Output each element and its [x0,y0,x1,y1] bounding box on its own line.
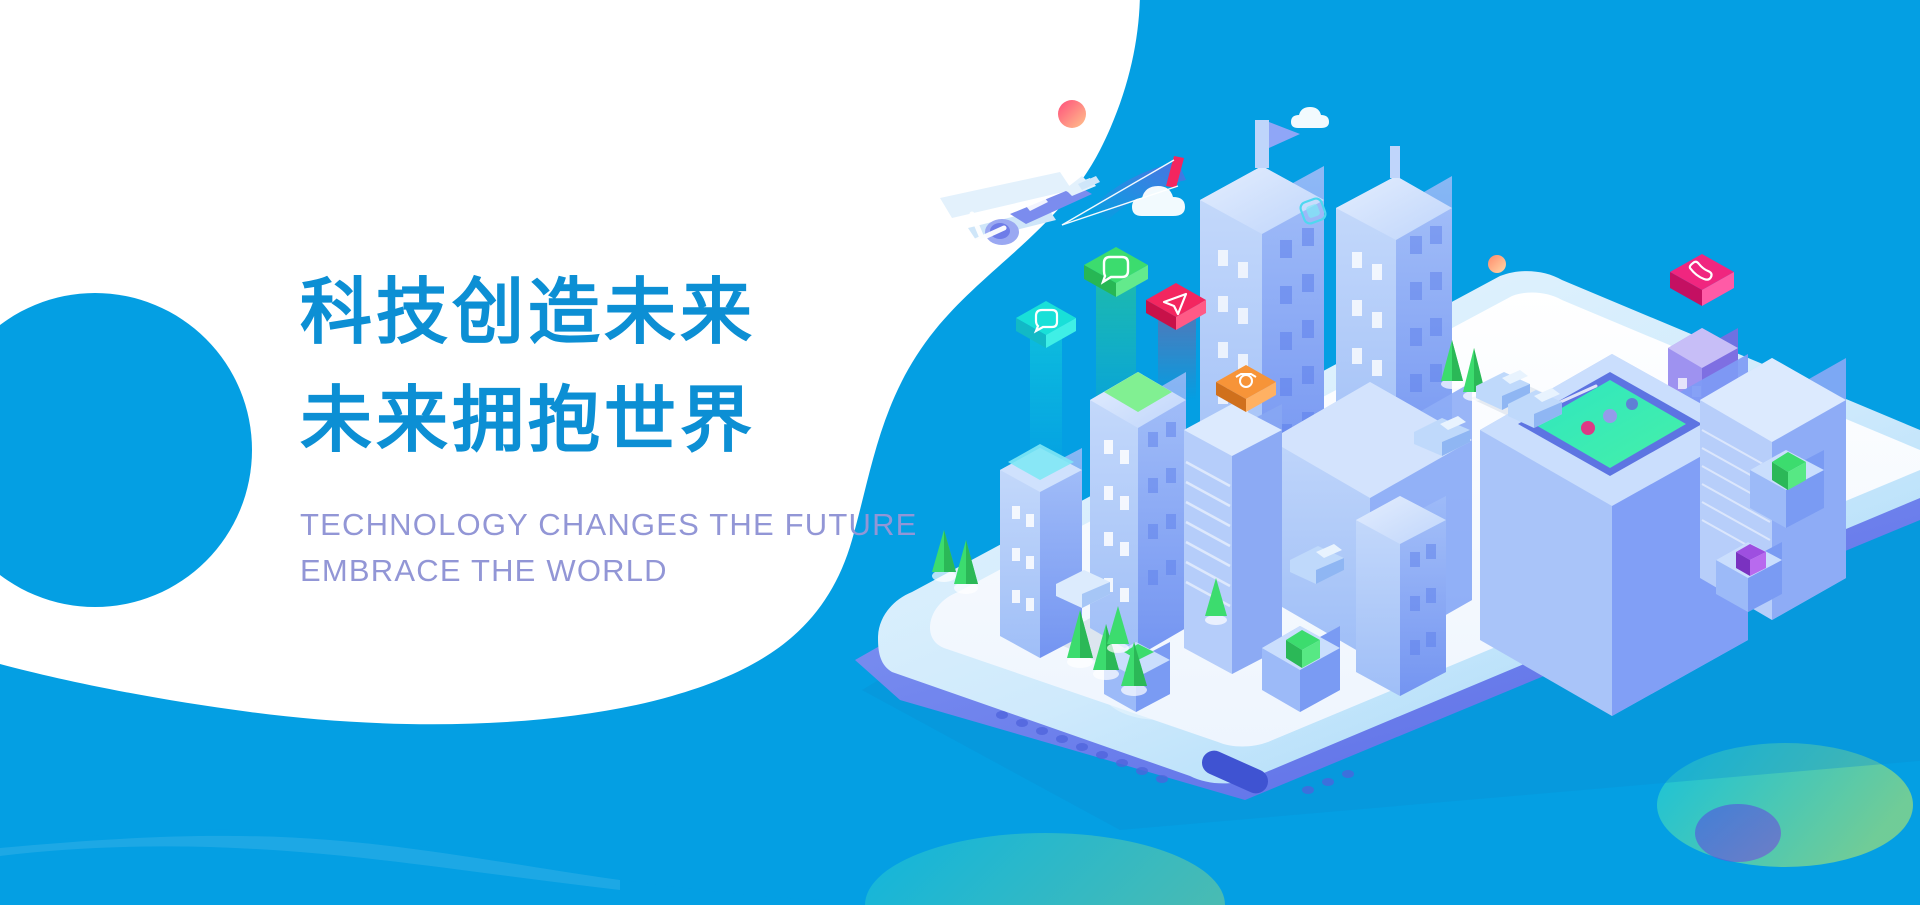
hero-copy: 科技创造未来 未来拥抱世界 TECHNOLOGY CHANGES THE FUT… [300,258,860,594]
cloud-2 [1291,107,1329,128]
subtitle-line-2: EMBRACE THE WORLD [300,548,860,594]
pin-send [1146,283,1206,330]
cloud-3 [888,302,929,325]
balloon-peach [1488,255,1506,273]
buildings-mid [1000,372,1472,905]
pin-message [1084,247,1148,297]
isometric-city-illustration [0,0,1920,905]
subtitle-line-1: TECHNOLOGY CHANGES THE FUTURE [300,502,860,548]
pin-phone [1670,254,1734,306]
balloon-coral [1058,100,1086,128]
headline-line-2: 未来拥抱世界 [300,366,860,474]
headline-line-1: 科技创造未来 [300,258,860,366]
hero-subtitle: TECHNOLOGY CHANGES THE FUTURE EMBRACE TH… [300,502,860,594]
pin-chat-bubble [1016,301,1076,348]
hero-banner: 科技创造未来 未来拥抱世界 TECHNOLOGY CHANGES THE FUT… [0,0,1920,905]
